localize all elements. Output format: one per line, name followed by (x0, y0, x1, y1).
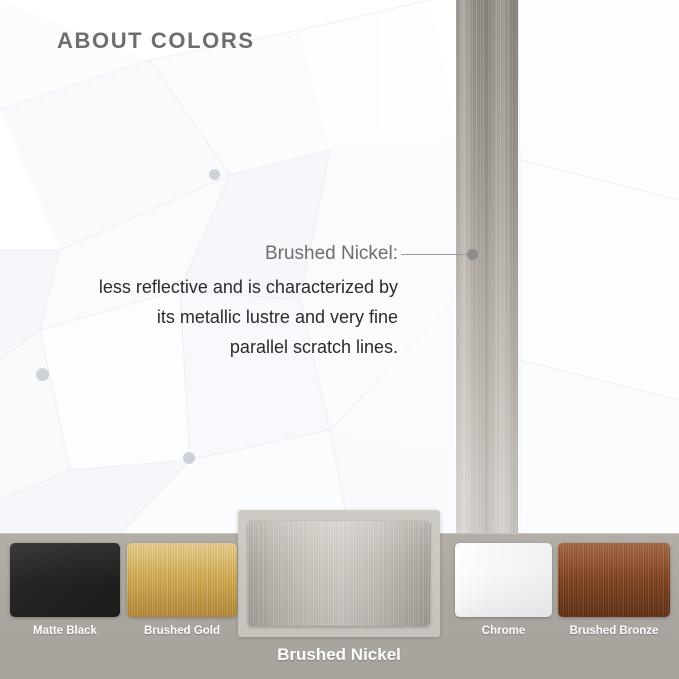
decorative-dot-icon (36, 368, 49, 381)
callout-text-block: Brushed Nickel: less reflective and is c… (30, 240, 398, 362)
swatch-brushed-nickel[interactable] (248, 521, 430, 626)
swatch-label-brushed-nickel: Brushed Nickel (238, 645, 440, 665)
swatch-sheen (248, 521, 430, 626)
callout-title: Brushed Nickel: (30, 240, 398, 268)
swatch-label-brushed-gold: Brushed Gold (127, 625, 237, 637)
callout-leader-dot-icon (467, 249, 478, 260)
product-color-infographic: ABOUT COLORS Brushed Nickel: less reflec… (0, 0, 679, 679)
swatch-sheen (127, 543, 237, 617)
page-title: ABOUT COLORS (57, 28, 255, 54)
decorative-dot-icon (183, 452, 195, 464)
brush-grain-layer-secondary (456, 0, 518, 534)
callout-leader-line (401, 254, 472, 255)
swatch-label-chrome: Chrome (455, 625, 552, 637)
brushed-nickel-material-strip (456, 0, 518, 534)
swatch-label-matte-black: Matte Black (10, 625, 120, 637)
decorative-dot-icon (209, 169, 220, 180)
swatch-chrome[interactable] (455, 543, 552, 617)
callout-body: less reflective and is characterized by … (30, 272, 398, 362)
swatch-label-brushed-bronze: Brushed Bronze (558, 625, 670, 637)
swatch-brushed-gold[interactable] (127, 543, 237, 617)
swatch-sheen (10, 543, 120, 617)
swatch-sheen (558, 543, 670, 617)
swatch-sheen (455, 543, 552, 617)
swatch-matte-black[interactable] (10, 543, 120, 617)
swatch-brushed-bronze[interactable] (558, 543, 670, 617)
